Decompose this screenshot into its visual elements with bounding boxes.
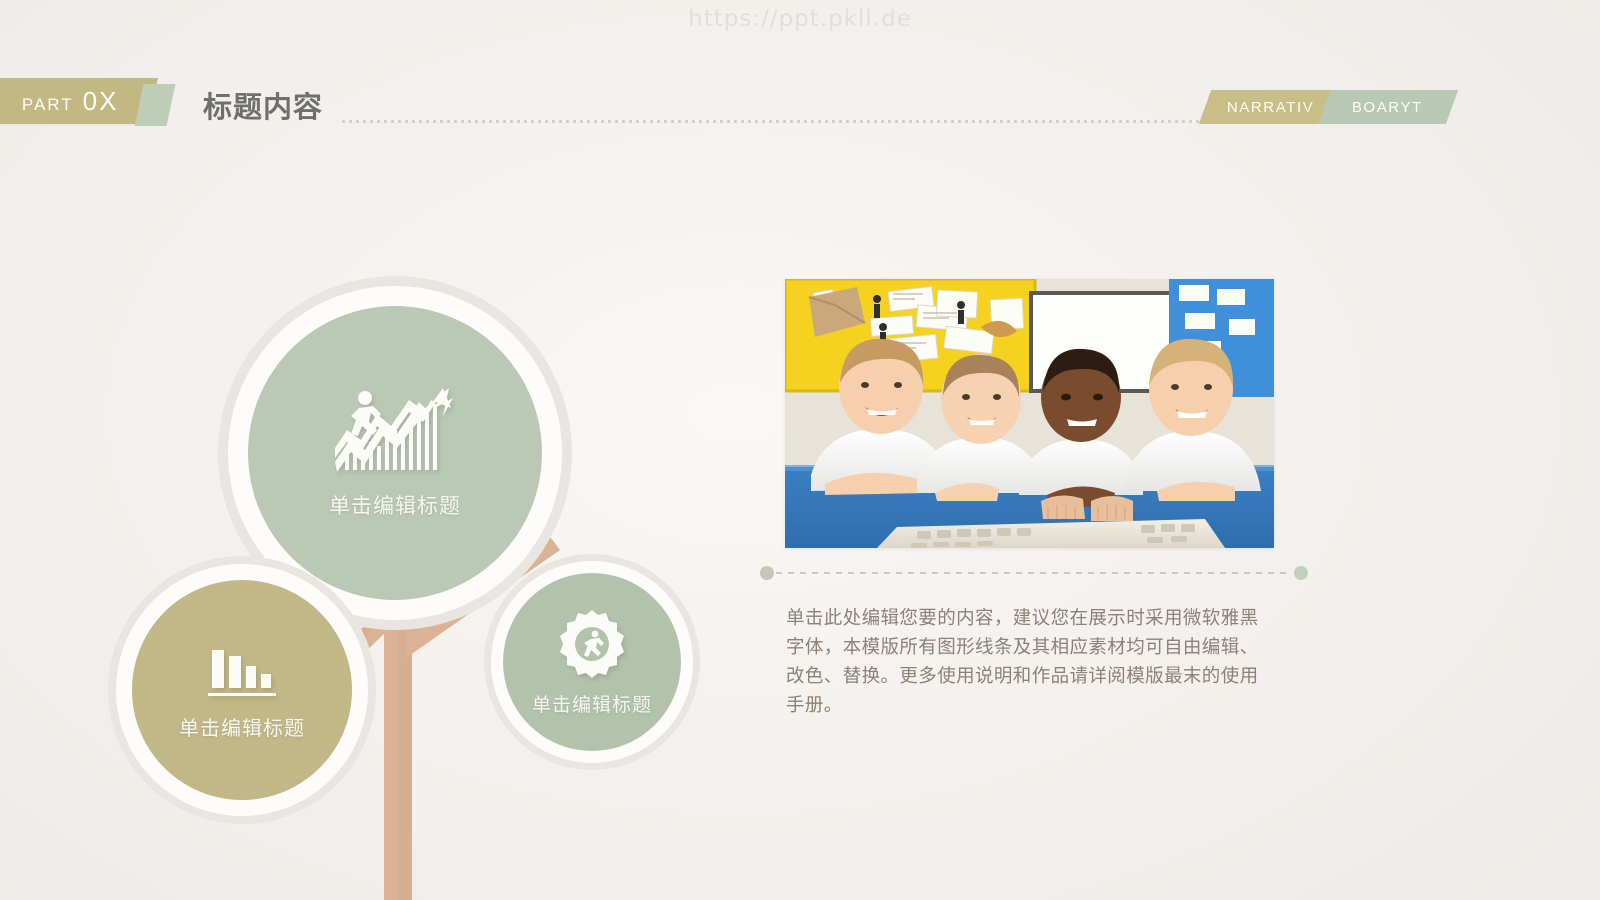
divider-dot-right [1294,566,1308,580]
growth-chart-runner-icon [331,386,459,478]
site-watermark: https://ppt.pkll.de [0,6,1600,32]
tab-boaryt[interactable]: BOARYT [1318,90,1458,124]
body-paragraph: 单击此处编辑您要的内容，建议您在展示时采用微软雅黑字体，本模版所有图形线条及其相… [786,603,1266,719]
tree-node-1-label: 单击编辑标题 [329,490,461,520]
tree-diagram: 单击编辑标题 单击编辑标题 单击编 [0,130,760,900]
part-banner: PART 0X [0,78,158,124]
title-dotted-rule [340,120,1208,123]
tree-node-1[interactable]: 单击编辑标题 [248,306,542,600]
tree-node-2-label: 单击编辑标题 [179,712,305,741]
divider-dot-left [760,566,774,580]
part-number: 0X [83,86,119,117]
content-divider [760,566,1308,580]
divider-dashed-line [776,572,1292,574]
tree-node-3-label: 单击编辑标题 [532,690,652,717]
tree-node-3[interactable]: 单击编辑标题 [503,573,681,751]
tab-narrativ-label: NARRATIV [1227,99,1315,116]
tab-boaryt-label: BOARYT [1352,99,1423,116]
bar-chart-icon [206,640,278,702]
part-label: PART [22,95,74,115]
classroom-photo-illustration [785,279,1274,548]
page-title: 标题内容 [203,84,323,126]
gear-runner-icon [556,608,628,680]
classroom-photo [785,279,1274,548]
tree-node-2[interactable]: 单击编辑标题 [132,580,352,800]
